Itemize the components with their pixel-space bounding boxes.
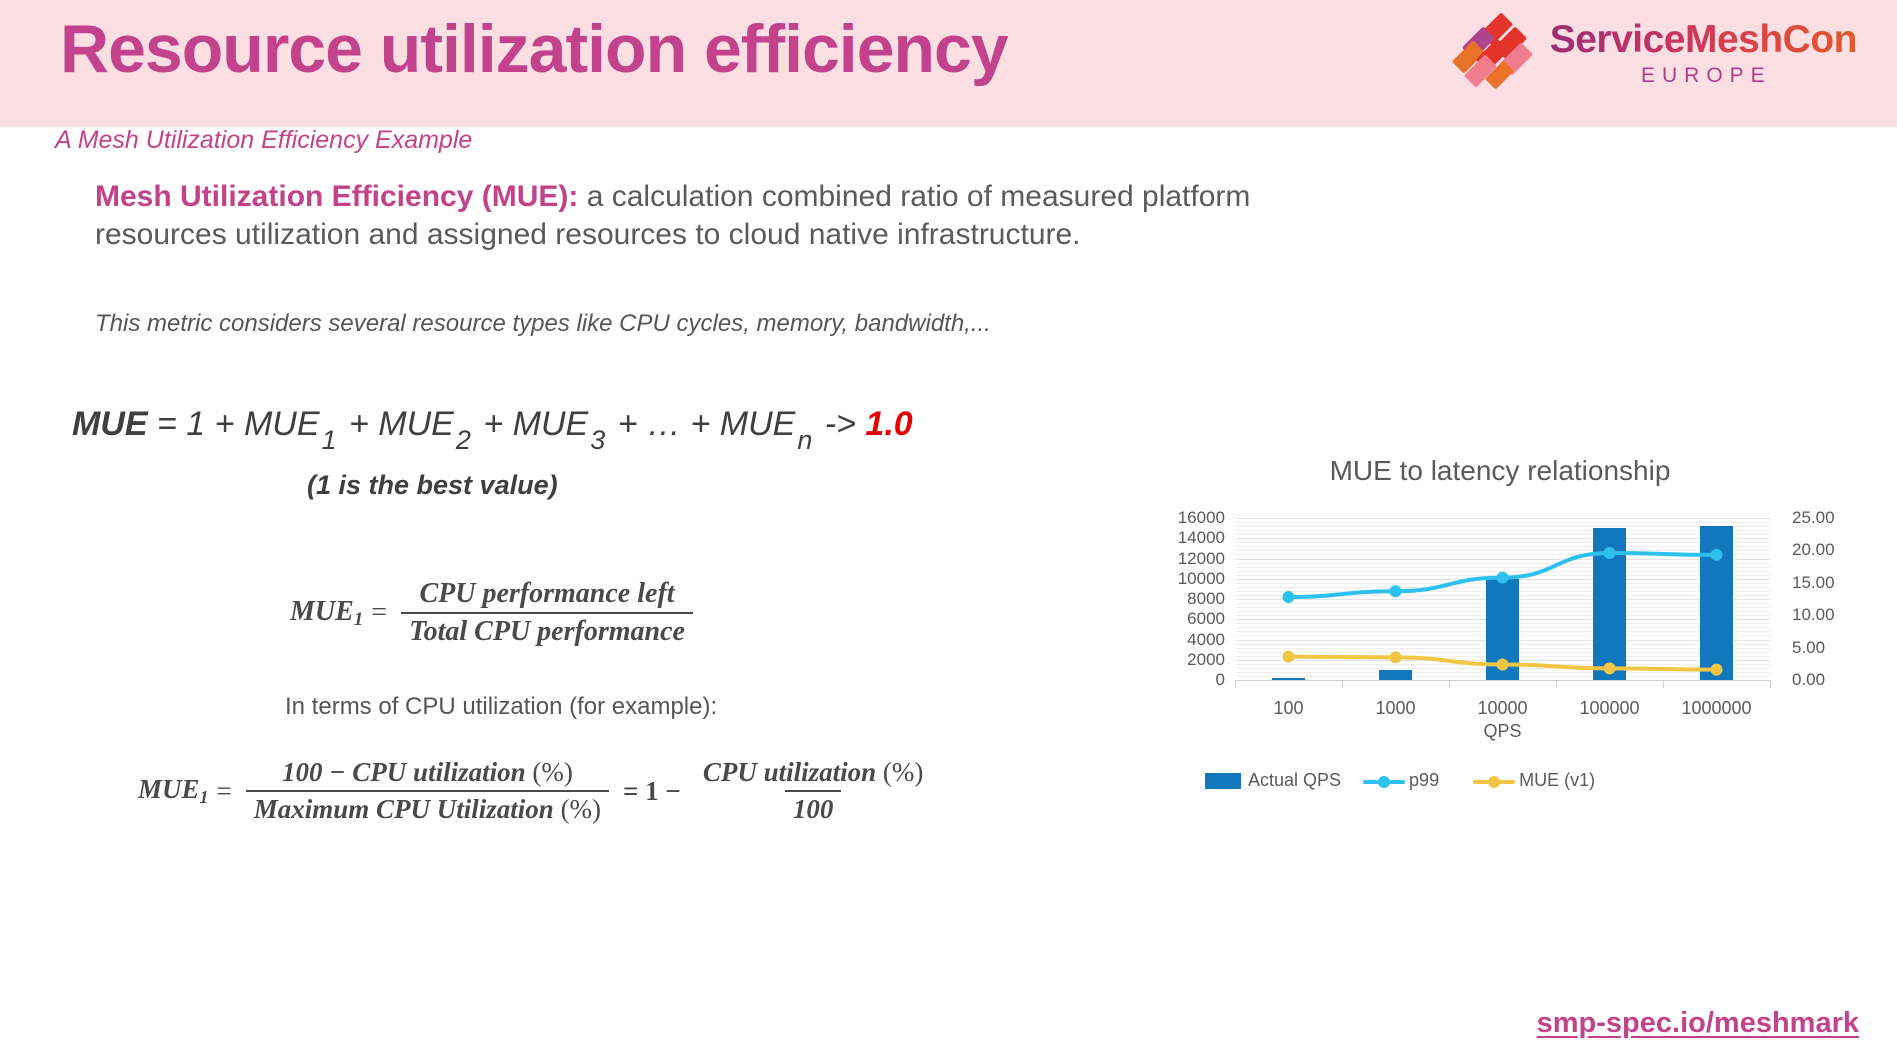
chart-y-axis-label: 4000 — [1150, 630, 1225, 650]
mue-sum-lhs: MUE — [72, 405, 148, 443]
logo-diamond-icon — [1462, 12, 1536, 94]
chart-y-axis-label: 12000 — [1150, 549, 1225, 569]
legend-label: Actual QPS — [1248, 770, 1341, 791]
formula1-denominator: Total CPU performance — [401, 612, 693, 648]
logo-subtitle: EUROPE — [1635, 64, 1772, 88]
formula2-denominator-1: Maximum CPU Utilization (%) — [246, 790, 609, 825]
formula2-numerator-1: 100 − CPU utilization (%) — [274, 757, 581, 790]
legend-line-swatch — [1363, 773, 1405, 789]
chart-y2-axis-label: 15.00 — [1792, 573, 1835, 593]
chart-x-axis-tick: 1000000 — [1681, 698, 1751, 719]
definition-term: Mesh Utilization Efficiency (MUE): — [95, 180, 578, 213]
chart-x-tickmark — [1556, 680, 1557, 688]
chart-legend: Actual QPSp99MUE (v1) — [1205, 770, 1595, 791]
cpu-utilization-note: In terms of CPU utilization (for example… — [285, 693, 717, 721]
chart-y-axis-label: 0 — [1150, 670, 1225, 690]
chart-x-tickmark — [1342, 680, 1343, 688]
servicemeshcon-logo: ServiceMeshCon EUROPE — [1462, 12, 1857, 94]
chart-y-axis-label: 16000 — [1150, 508, 1225, 528]
formula1-equals: = — [371, 597, 387, 629]
chart-line-layer — [1235, 518, 1770, 680]
chart-plot-area — [1235, 518, 1770, 680]
mue-sum-sub2: 2 — [454, 425, 474, 455]
mue-cpu-utilization-formula: MUE1 = 100 − CPU utilization (%) Maximum… — [138, 757, 937, 825]
slide-subtitle: A Mesh Utilization Efficiency Example — [55, 126, 472, 155]
chart-y-axis-label: 14000 — [1150, 528, 1225, 548]
chart-y2-axis-label: 5.00 — [1792, 638, 1825, 658]
chart-x-tickmark — [1449, 680, 1450, 688]
formula1-numerator: CPU performance left — [411, 578, 682, 612]
chart-x-axis-tick: 10000 — [1477, 698, 1527, 719]
chart-data-point — [1711, 664, 1723, 676]
chart-y2-axis-label: 20.00 — [1792, 540, 1835, 560]
footer-link[interactable]: smp-spec.io/meshmark — [1537, 1007, 1859, 1040]
chart-x-axis-tick: 100 — [1273, 698, 1303, 719]
page-title: Resource utilization efficiency — [60, 10, 1008, 88]
chart-x-axis-tick: 100000 — [1579, 698, 1639, 719]
chart-x-axis-tick: 1000 — [1375, 698, 1415, 719]
chart-data-point — [1604, 662, 1616, 674]
mue-sum-eq: = 1 + MUE — [148, 405, 320, 443]
chart-data-point — [1390, 651, 1402, 663]
chart-data-point — [1497, 572, 1509, 584]
mue-sum-sub3: 3 — [588, 425, 608, 455]
mue-sum-target: 1.0 — [865, 405, 912, 443]
mue-best-value-note: (1 is the best value) — [307, 470, 558, 501]
logo-wordmark: ServiceMeshCon — [1550, 18, 1857, 62]
legend-line-swatch — [1473, 773, 1515, 789]
chart-data-point — [1283, 591, 1295, 603]
legend-bar-swatch — [1205, 773, 1241, 789]
chart-data-point — [1604, 547, 1616, 559]
formula2-fraction-1: 100 − CPU utilization (%) Maximum CPU Ut… — [246, 757, 609, 825]
definition-paragraph: Mesh Utilization Efficiency (MUE): a cal… — [95, 178, 1385, 255]
formula2-equals-1: = — [217, 776, 232, 807]
legend-label: p99 — [1409, 770, 1439, 791]
chart-y-axis-label: 8000 — [1150, 589, 1225, 609]
chart-data-point — [1711, 549, 1723, 561]
legend-item[interactable]: Actual QPS — [1205, 770, 1341, 791]
mue-sum-t4: + … + MUE — [608, 405, 795, 443]
chart-y-axis-label: 6000 — [1150, 609, 1225, 629]
formula2-lhs: MUE1 — [138, 774, 209, 808]
formula1-fraction: CPU performance left Total CPU performan… — [401, 578, 693, 648]
chart-y2-axis-label: 10.00 — [1792, 605, 1835, 625]
metric-note: This metric considers several resource t… — [95, 310, 1095, 338]
formula2-denominator-2: 100 — [785, 790, 842, 825]
chart-y2-axis-label: 25.00 — [1792, 508, 1835, 528]
chart-data-point — [1390, 585, 1402, 597]
chart-y-axis-label: 2000 — [1150, 650, 1225, 670]
chart-x-axis-title: QPS — [1483, 721, 1521, 742]
chart-y2-axis-label: 0.00 — [1792, 670, 1825, 690]
chart-x-tickmark — [1770, 680, 1771, 688]
legend-item[interactable]: MUE (v1) — [1473, 770, 1595, 791]
chart-x-tickmark — [1235, 680, 1236, 688]
formula2-numerator-2: CPU utilization (%) — [695, 757, 932, 790]
mue-sum-t2: + MUE — [340, 405, 454, 443]
chart-data-point — [1497, 658, 1509, 670]
mue-sum-sub1: 1 — [320, 425, 340, 455]
mue-sum-subn: n — [795, 425, 815, 455]
mue-sum-t3: + MUE — [474, 405, 588, 443]
chart-x-axis-line — [1235, 680, 1770, 681]
mue-sum-formula: MUE = 1 + MUE1 + MUE2 + MUE3 + … + MUEn … — [72, 405, 913, 456]
mue-sum-arrow: -> — [815, 405, 865, 443]
legend-label: MUE (v1) — [1519, 770, 1595, 791]
chart-y-axis-label: 10000 — [1150, 569, 1225, 589]
formula2-fraction-2: CPU utilization (%) 100 — [695, 757, 932, 825]
chart-data-point — [1283, 651, 1295, 663]
chart-series-layer — [1235, 518, 1770, 680]
formula1-lhs: MUE1 — [290, 596, 363, 631]
chart-title: MUE to latency relationship — [1120, 455, 1880, 487]
chart-x-tickmark — [1663, 680, 1664, 688]
mue-cpu-fraction-formula: MUE1 = CPU performance left Total CPU pe… — [290, 578, 699, 648]
formula2-equals-2: = 1 − — [623, 776, 681, 807]
legend-item[interactable]: p99 — [1363, 770, 1439, 791]
